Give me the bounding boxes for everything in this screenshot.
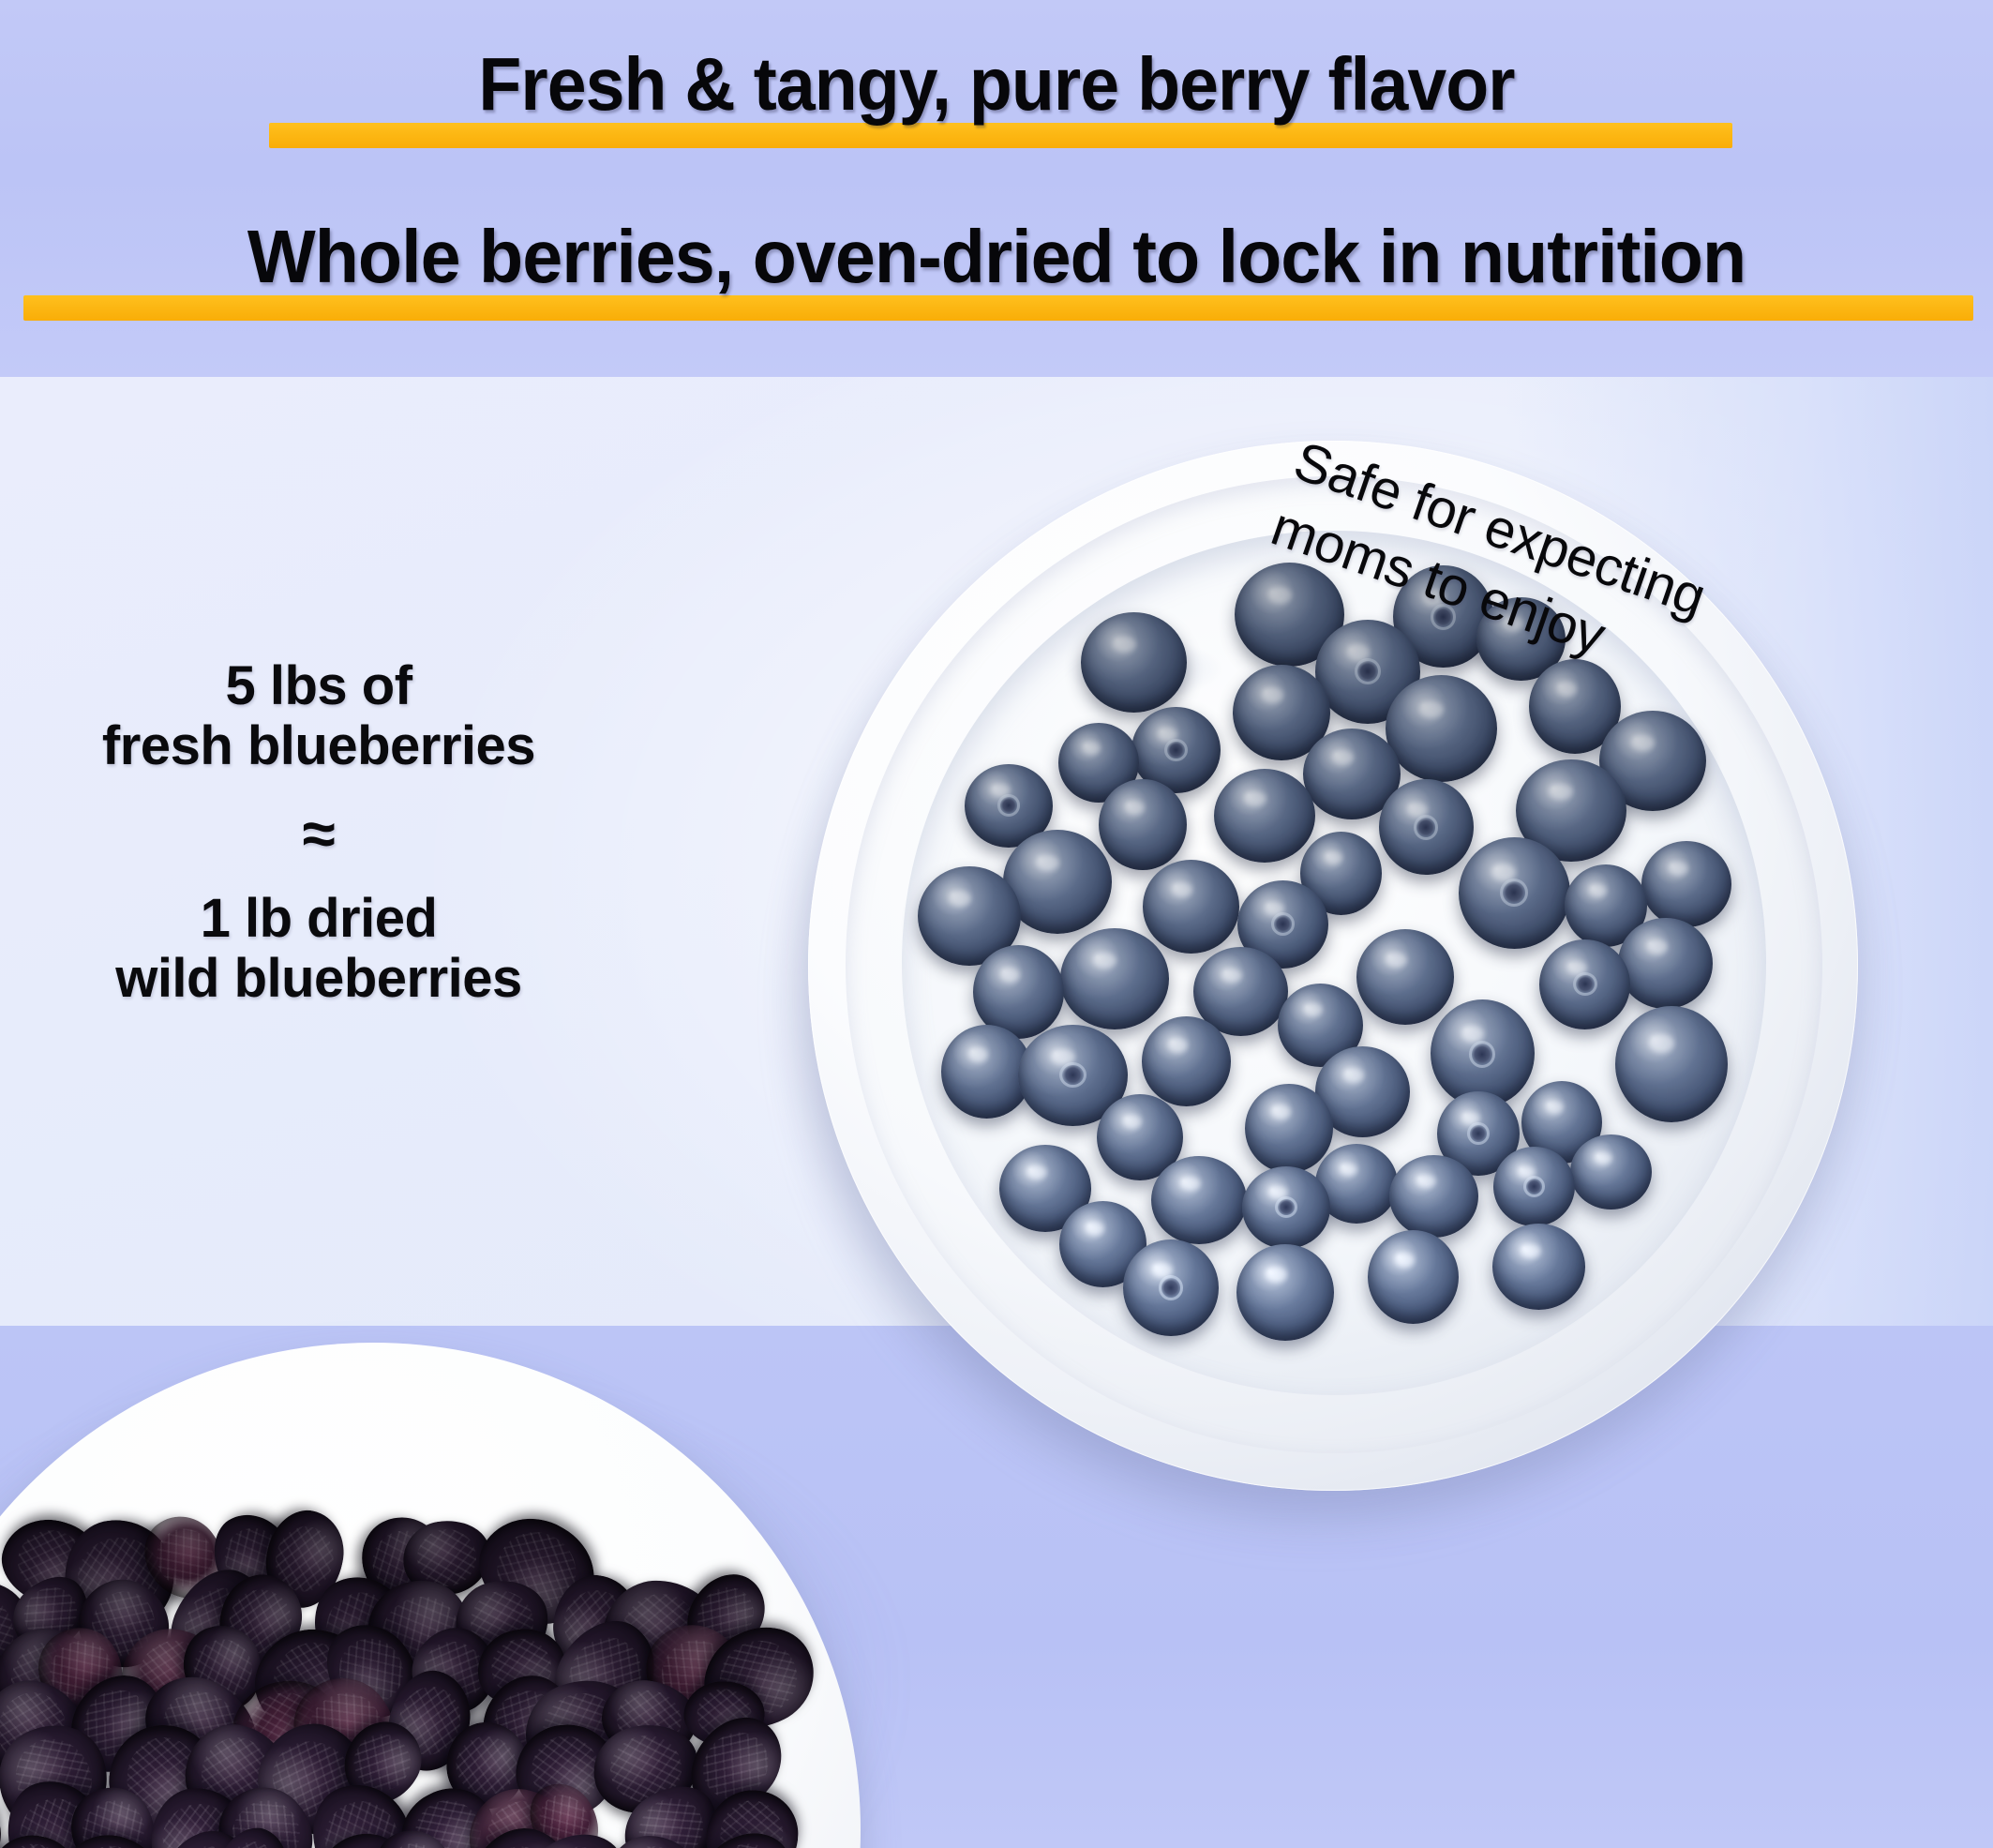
blueberry: [1618, 918, 1713, 1008]
dried-berry-pile: [0, 1500, 787, 1848]
blueberry: [1570, 1134, 1652, 1209]
blueberry: [1356, 929, 1454, 1025]
dried-label-text: wild blueberries: [9, 949, 628, 1009]
headline-highlight-bar-1: [269, 123, 1732, 148]
headline-line-2: Whole berries, oven-dried to lock in nut…: [35, 218, 1958, 296]
dried-amount-text: 1 lb dried: [9, 889, 628, 949]
blueberry: [1242, 1166, 1330, 1249]
blueberry: [1099, 779, 1186, 870]
blueberry: [1368, 1230, 1459, 1324]
blueberry: [1245, 1084, 1332, 1173]
blueberry: [1493, 1147, 1574, 1226]
blueberry: [1060, 928, 1169, 1029]
blueberry: [1214, 769, 1315, 863]
blueberry: [1615, 1006, 1728, 1122]
blueberry: [1492, 1224, 1585, 1310]
blueberry: [1641, 841, 1732, 928]
fresh-amount-text: 5 lbs of: [9, 656, 628, 716]
blueberry: [1539, 939, 1630, 1029]
headline-line-1: Fresh & tangy, pure berry flavor: [60, 45, 1933, 124]
headline-block: Fresh & tangy, pure berry flavor Whole b…: [0, 0, 1993, 377]
blueberry: [1379, 779, 1473, 875]
blueberry: [1142, 1016, 1231, 1105]
approximately-equal-icon: ≈: [9, 801, 628, 866]
blueberry: [1081, 612, 1187, 713]
quantity-comparison-block: 5 lbs of fresh blueberries ≈ 1 lb dried …: [9, 656, 628, 1009]
headline-highlight-bar-2: [23, 295, 1973, 321]
blueberry: [1151, 1156, 1247, 1244]
blueberry: [1459, 837, 1570, 949]
blueberry: [1236, 1244, 1334, 1341]
blueberry: [1143, 860, 1238, 953]
blueberry: [1123, 1240, 1218, 1336]
fresh-label-text: fresh blueberries: [9, 716, 628, 776]
blueberry: [1386, 675, 1497, 782]
blueberry: [1389, 1155, 1478, 1239]
product-infographic: Fresh & tangy, pure berry flavor Whole b…: [0, 0, 1993, 1848]
